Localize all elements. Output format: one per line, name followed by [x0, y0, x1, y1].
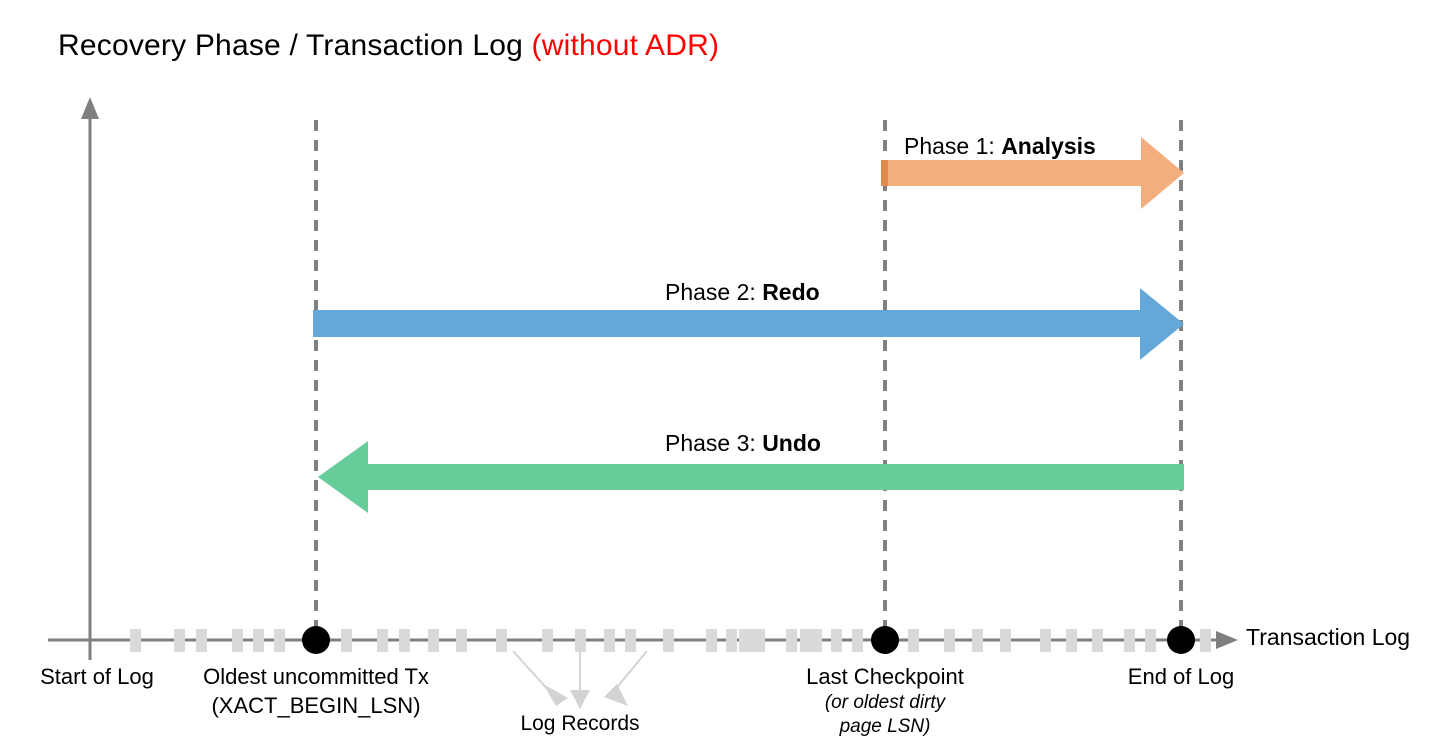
x-axis [48, 631, 1238, 649]
phase-2-prefix: Phase 2: [665, 279, 762, 305]
x-axis-label: Transaction Log [1246, 623, 1410, 651]
start-of-log-label: Start of Log [22, 663, 172, 690]
marker-sublabel-last-checkpoint: (or oldest dirty page LSN) [805, 691, 965, 739]
phase-3-name: Undo [762, 430, 821, 456]
dot-end-of-log [1167, 626, 1195, 654]
phase-2-name: Redo [762, 279, 820, 305]
dot-oldest-uncommitted-tx [302, 626, 330, 654]
marker-label-last-checkpoint: Last Checkpoint [765, 663, 1005, 690]
phase-3-prefix: Phase 3: [665, 430, 762, 456]
phase-2-label: Phase 2: Redo [665, 278, 820, 306]
vertical-guides [316, 120, 1181, 638]
log-records-label: Log Records [480, 711, 680, 737]
diagram-canvas: Recovery Phase / Transaction Log (withou… [0, 0, 1450, 756]
dot-last-checkpoint [871, 626, 899, 654]
y-axis [81, 97, 99, 660]
phase-1-prefix: Phase 1: [904, 133, 1001, 159]
marker-sublabel-oldest-uncommitted-tx: (XACT_BEGIN_LSN) [166, 692, 466, 719]
phase-3-label: Phase 3: Undo [665, 429, 821, 457]
recovery-phase-diagram [0, 0, 1450, 756]
phase-1-name: Analysis [1001, 133, 1096, 159]
marker-label-end-of-log: End of Log [1071, 663, 1291, 690]
marker-label-oldest-uncommitted-tx: Oldest uncommitted Tx [166, 663, 466, 690]
log-records-callout-arrows [513, 651, 647, 709]
phase-1-label: Phase 1: Analysis [904, 132, 1096, 160]
